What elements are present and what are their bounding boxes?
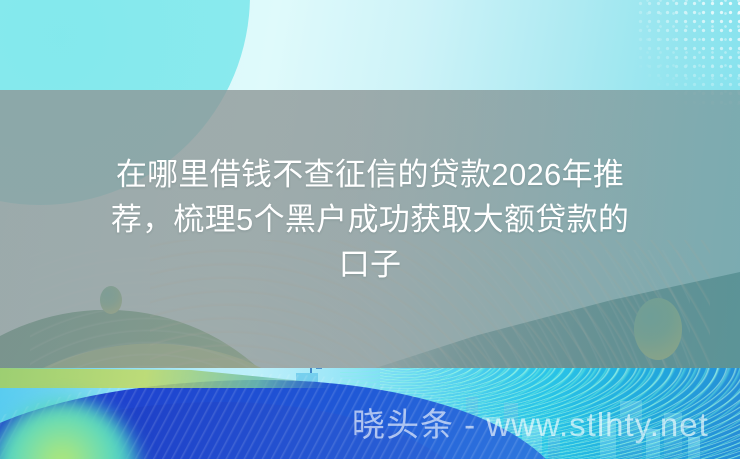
- site-watermark: 晓头条 - www.stlhty.net: [352, 405, 709, 445]
- cover-image-canvas: 在哪里借钱不查征信的贷款2026年推 荐，梳理5个黑户成功获取大额贷款的 口子 …: [0, 0, 740, 459]
- tower-top-icon: [316, 368, 322, 369]
- page-title: 在哪里借钱不查征信的贷款2026年推 荐，梳理5个黑户成功获取大额贷款的 口子: [36, 152, 704, 287]
- tower-antenna-icon: [310, 368, 312, 373]
